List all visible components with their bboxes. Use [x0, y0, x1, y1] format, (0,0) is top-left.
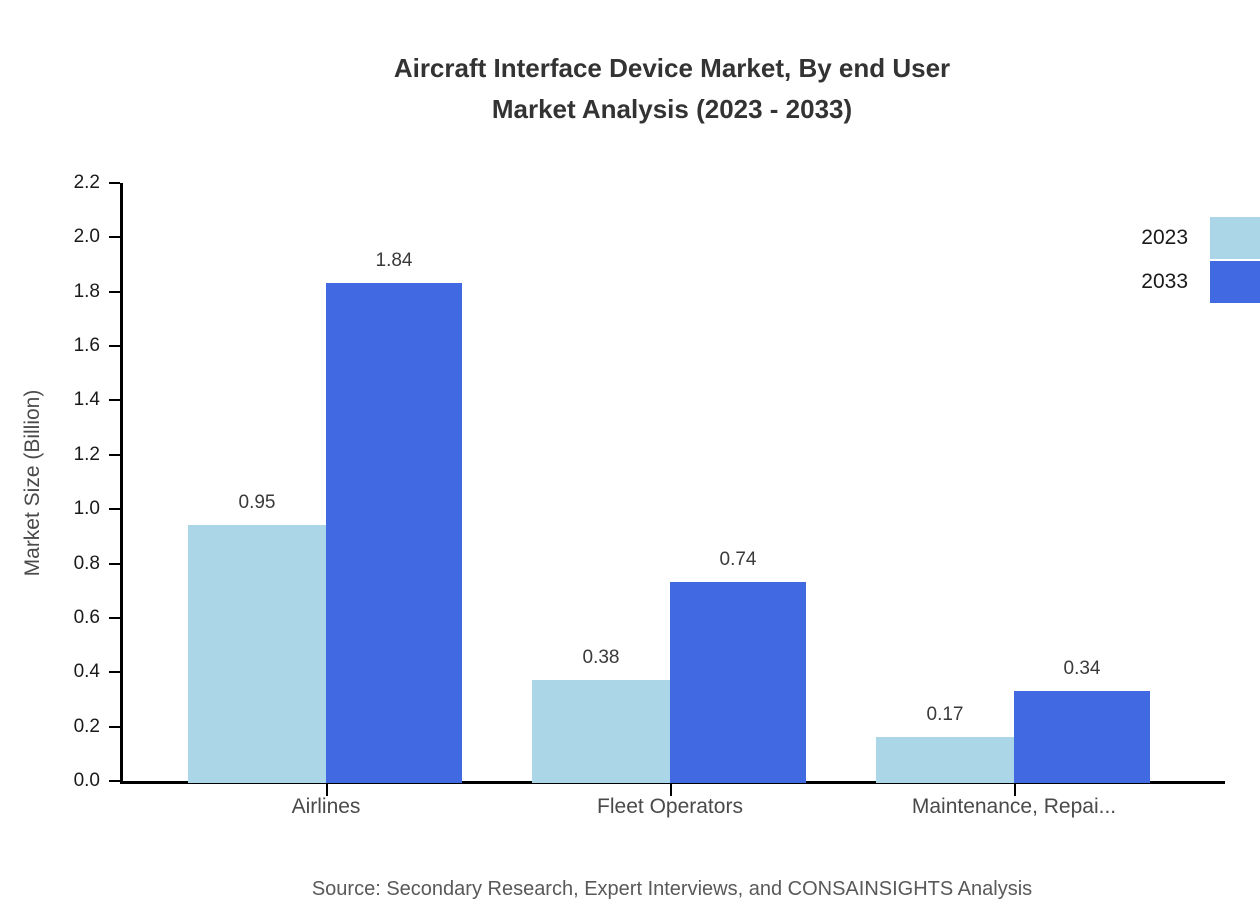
y-axis-tick-label: 0.8 — [0, 553, 100, 575]
y-axis-tick-label: 1.6 — [0, 335, 100, 357]
bar-value-label: 0.38 — [583, 647, 620, 669]
y-axis-tick-label: 1.2 — [0, 444, 100, 466]
bar-2023-0[interactable] — [188, 525, 326, 783]
legend-item-2023[interactable]: 2023 — [1128, 216, 1260, 260]
y-axis-tick — [109, 399, 120, 401]
y-axis-tick-label: 2.0 — [0, 226, 100, 248]
y-axis-tick — [109, 671, 120, 673]
y-axis-tick-label: 1.0 — [0, 498, 100, 520]
bar-value-label: 0.74 — [720, 549, 757, 571]
bar-value-label: 0.34 — [1064, 658, 1101, 680]
chart-legend: 20232033 — [1128, 216, 1260, 304]
x-axis-category-label: Fleet Operators — [597, 795, 743, 819]
y-axis-tick — [109, 563, 120, 565]
bar-value-label: 1.84 — [376, 250, 413, 272]
bar-2033-0[interactable] — [326, 283, 462, 783]
plot-area: 0.951.840.380.740.170.34 — [120, 183, 1222, 783]
y-axis-tick — [109, 291, 120, 293]
bar-2033-2[interactable] — [1014, 691, 1150, 783]
y-axis-tick — [109, 182, 120, 184]
legend-swatch — [1210, 217, 1260, 259]
chart-title-line-2: Market Analysis (2023 - 2033) — [492, 94, 852, 124]
legend-swatch — [1210, 261, 1260, 303]
y-axis-title: Market Size (Billion) — [10, 183, 56, 783]
y-axis-tick — [109, 454, 120, 456]
y-axis-tick-label: 0.2 — [0, 716, 100, 738]
bar-value-label: 0.17 — [927, 704, 964, 726]
y-axis-tick — [109, 508, 120, 510]
y-axis-tick-label: 1.8 — [0, 281, 100, 303]
y-axis-tick-label: 0.0 — [0, 770, 100, 792]
y-axis-tick-label: 1.4 — [0, 389, 100, 411]
y-axis-tick — [109, 345, 120, 347]
y-axis-tick — [109, 780, 120, 782]
source-note: Source: Secondary Research, Expert Inter… — [0, 878, 1260, 901]
bar-2033-1[interactable] — [670, 582, 806, 783]
y-axis-tick-label: 0.6 — [0, 607, 100, 629]
bar-2023-1[interactable] — [532, 680, 670, 783]
y-axis-tick — [109, 236, 120, 238]
y-axis-tick-label: 0.4 — [0, 661, 100, 683]
y-axis-tick — [109, 617, 120, 619]
chart-title: Aircraft Interface Device Market, By end… — [0, 48, 1260, 130]
legend-item-2033[interactable]: 2033 — [1128, 260, 1260, 304]
x-axis-category-label: Maintenance, Repai... — [912, 795, 1116, 819]
chart-title-line-1: Aircraft Interface Device Market, By end… — [394, 53, 950, 83]
legend-label: 2023 — [1128, 226, 1210, 250]
bar-value-label: 0.95 — [239, 492, 276, 514]
legend-label: 2033 — [1128, 270, 1210, 294]
bar-2023-2[interactable] — [876, 737, 1014, 783]
x-axis-category-label: Airlines — [292, 795, 361, 819]
y-axis-tick-label: 2.2 — [0, 172, 100, 194]
y-axis-tick — [109, 726, 120, 728]
